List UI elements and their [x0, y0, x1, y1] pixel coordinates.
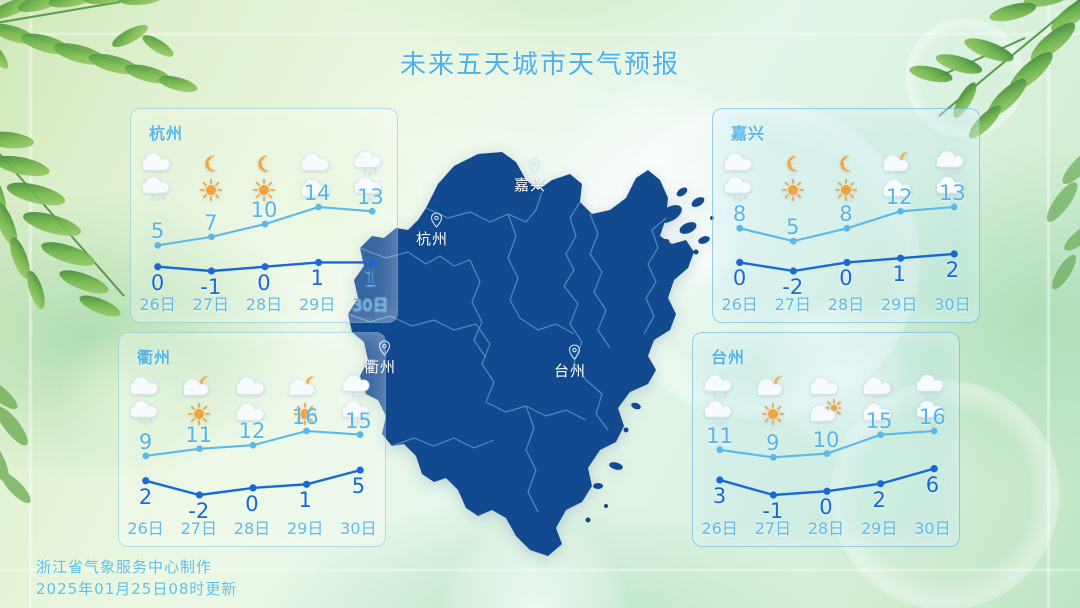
city-name-label: 嘉兴: [731, 120, 765, 144]
date-label: 30日: [332, 515, 385, 539]
forecast-day-2[interactable]: 7 -1 27日: [184, 147, 237, 322]
high-temp-value: 12: [225, 421, 278, 442]
map-province-shape: [348, 152, 714, 556]
high-temp-value: 8: [819, 204, 872, 225]
low-temp-value: 6: [906, 475, 959, 496]
high-temp-value: 9: [746, 433, 799, 454]
date-label: 29日: [853, 515, 906, 539]
weather-icons: [803, 373, 849, 433]
city-name-label: 杭州: [149, 120, 183, 144]
weather-icon-day-rain: [131, 399, 161, 429]
city-panel-taizhou[interactable]: 台州 11 3 26日 9 -1 27日: [692, 332, 960, 547]
frame-line-top: [0, 32, 1080, 36]
low-temp-value: 2: [853, 490, 906, 511]
high-temp-value: 11: [693, 426, 746, 447]
high-temp-value: 14: [291, 183, 344, 204]
date-label: 26日: [119, 515, 172, 539]
date-label: 30日: [926, 291, 979, 315]
location-pin-icon: [568, 344, 581, 360]
location-pin-icon: [528, 158, 541, 174]
weather-icons: [823, 149, 869, 209]
weather-icons: [717, 149, 763, 209]
forecast-columns: 9 2 26日 11 -2 27日 12 0 28日: [119, 371, 385, 546]
forecast-day-2[interactable]: 11 -2 27日: [172, 371, 225, 546]
forecast-day-3[interactable]: 12 0 28日: [225, 371, 278, 546]
location-pin-icon: [430, 212, 443, 228]
forecast-columns: 8 0 26日 5 -2 27日 8 0 28日: [713, 147, 979, 322]
forecast-columns: 5 0 26日 7 -1 27日 10 0 28日: [131, 147, 397, 322]
weather-forecast-graphic: 未来五天城市天气预报: [0, 0, 1080, 608]
high-temp-value: 10: [237, 200, 290, 221]
date-label: 28日: [237, 291, 290, 315]
forecast-day-1[interactable]: 9 2 26日: [119, 371, 172, 546]
date-label: 29日: [873, 291, 926, 315]
low-temp-value: 2: [119, 487, 172, 508]
high-temp-value: 7: [184, 213, 237, 234]
weather-icon-day-sun: [778, 175, 808, 205]
high-temp-value: 15: [853, 411, 906, 432]
forecast-day-5[interactable]: 15 5 30日: [332, 371, 385, 546]
city-panel-quzhou[interactable]: 衢州 9 2 26日 11 -2 27日: [118, 332, 386, 547]
date-label: 26日: [713, 291, 766, 315]
date-label: 28日: [819, 291, 872, 315]
forecast-day-4[interactable]: 12 1 29日: [873, 147, 926, 322]
high-temp-value: 16: [279, 407, 332, 428]
forecast-day-3[interactable]: 8 0 28日: [819, 147, 872, 322]
forecast-day-4[interactable]: 14 1 29日: [291, 147, 344, 322]
frame-line-right: [1046, 0, 1051, 608]
high-temp-value: 13: [344, 187, 397, 208]
high-temp-value: 8: [713, 204, 766, 225]
date-label: 30日: [906, 515, 959, 539]
city-panel-hangzhou[interactable]: 杭州 5 0 26日 7 -1 27日: [130, 108, 398, 323]
forecast-day-5[interactable]: 13 2 30日: [926, 147, 979, 322]
weather-icon-day-sun: [758, 399, 788, 429]
forecast-day-1[interactable]: 8 0 26日: [713, 147, 766, 322]
weather-icon-day-sun: [831, 175, 861, 205]
forecast-day-1[interactable]: 5 0 26日: [131, 147, 184, 322]
date-label: 27日: [766, 291, 819, 315]
low-temp-value: 0: [225, 494, 278, 515]
low-temp-value: 1: [291, 268, 344, 289]
date-label: 27日: [172, 515, 225, 539]
weather-icons: [123, 373, 169, 433]
high-temp-value: 5: [766, 217, 819, 238]
date-label: 28日: [799, 515, 852, 539]
high-temp-value: 15: [332, 411, 385, 432]
date-label: 28日: [225, 515, 278, 539]
low-temp-value: 3: [693, 486, 746, 507]
date-label: 26日: [131, 291, 184, 315]
high-temp-value: 12: [873, 187, 926, 208]
forecast-day-3[interactable]: 10 0 28日: [799, 371, 852, 546]
footer-producer: 浙江省气象服务中心制作: [36, 557, 237, 578]
high-temp-value: 11: [172, 425, 225, 446]
forecast-columns: 11 3 26日 9 -1 27日 10 0 28日: [693, 371, 959, 546]
weather-icons: [770, 149, 816, 209]
footer-credits: 浙江省气象服务中心制作 2025年01月25日08时更新: [36, 557, 237, 600]
low-temp-value: 1: [873, 264, 926, 285]
map-label-hangzhou: 杭州: [416, 228, 448, 249]
forecast-day-3[interactable]: 10 0 28日: [237, 147, 290, 322]
weather-icon-day-sun: [196, 175, 226, 205]
city-name-label: 衢州: [137, 344, 171, 368]
map-label-jiaxing: 嘉兴: [514, 174, 546, 195]
forecast-day-4[interactable]: 15 2 29日: [853, 371, 906, 546]
weather-icon-day-rain: [725, 175, 755, 205]
date-label: 27日: [184, 291, 237, 315]
low-temp-value: 1: [344, 268, 397, 289]
high-temp-value: 5: [131, 221, 184, 242]
weather-icons: [188, 149, 234, 209]
forecast-day-5[interactable]: 13 1 30日: [344, 147, 397, 322]
low-temp-value: 0: [713, 268, 766, 289]
date-label: 30日: [344, 291, 397, 315]
date-label: 29日: [291, 291, 344, 315]
date-label: 26日: [693, 515, 746, 539]
high-temp-value: 13: [926, 183, 979, 204]
date-label: 29日: [279, 515, 332, 539]
forecast-day-4[interactable]: 16 1 29日: [279, 371, 332, 546]
footer-updated: 2025年01月25日08时更新: [36, 579, 237, 600]
low-temp-value: 1: [279, 490, 332, 511]
high-temp-value: 9: [119, 432, 172, 453]
forecast-day-5[interactable]: 16 6 30日: [906, 371, 959, 546]
low-temp-value: 0: [819, 268, 872, 289]
page-title: 未来五天城市天气预报: [0, 44, 1080, 81]
forecast-day-2[interactable]: 9 -1 27日: [746, 371, 799, 546]
frame-line-left: [28, 0, 33, 608]
city-name-label: 台州: [711, 344, 745, 368]
high-temp-value: 10: [799, 430, 852, 451]
forecast-day-1[interactable]: 11 3 26日: [693, 371, 746, 546]
low-temp-value: 2: [926, 260, 979, 281]
city-panel-jiaxing[interactable]: 嘉兴 8 0 26日 5 -2 27日: [712, 108, 980, 323]
weather-icons: [750, 373, 796, 433]
date-label: 27日: [746, 515, 799, 539]
low-temp-value: 5: [332, 476, 385, 497]
forecast-day-2[interactable]: 5 -2 27日: [766, 147, 819, 322]
high-temp-value: 16: [906, 407, 959, 428]
weather-icon-day-partly-sun: [811, 399, 841, 429]
map-label-taizhou: 台州: [554, 360, 586, 381]
weather-icon-day-rain: [143, 175, 173, 205]
weather-icons: [135, 149, 181, 209]
